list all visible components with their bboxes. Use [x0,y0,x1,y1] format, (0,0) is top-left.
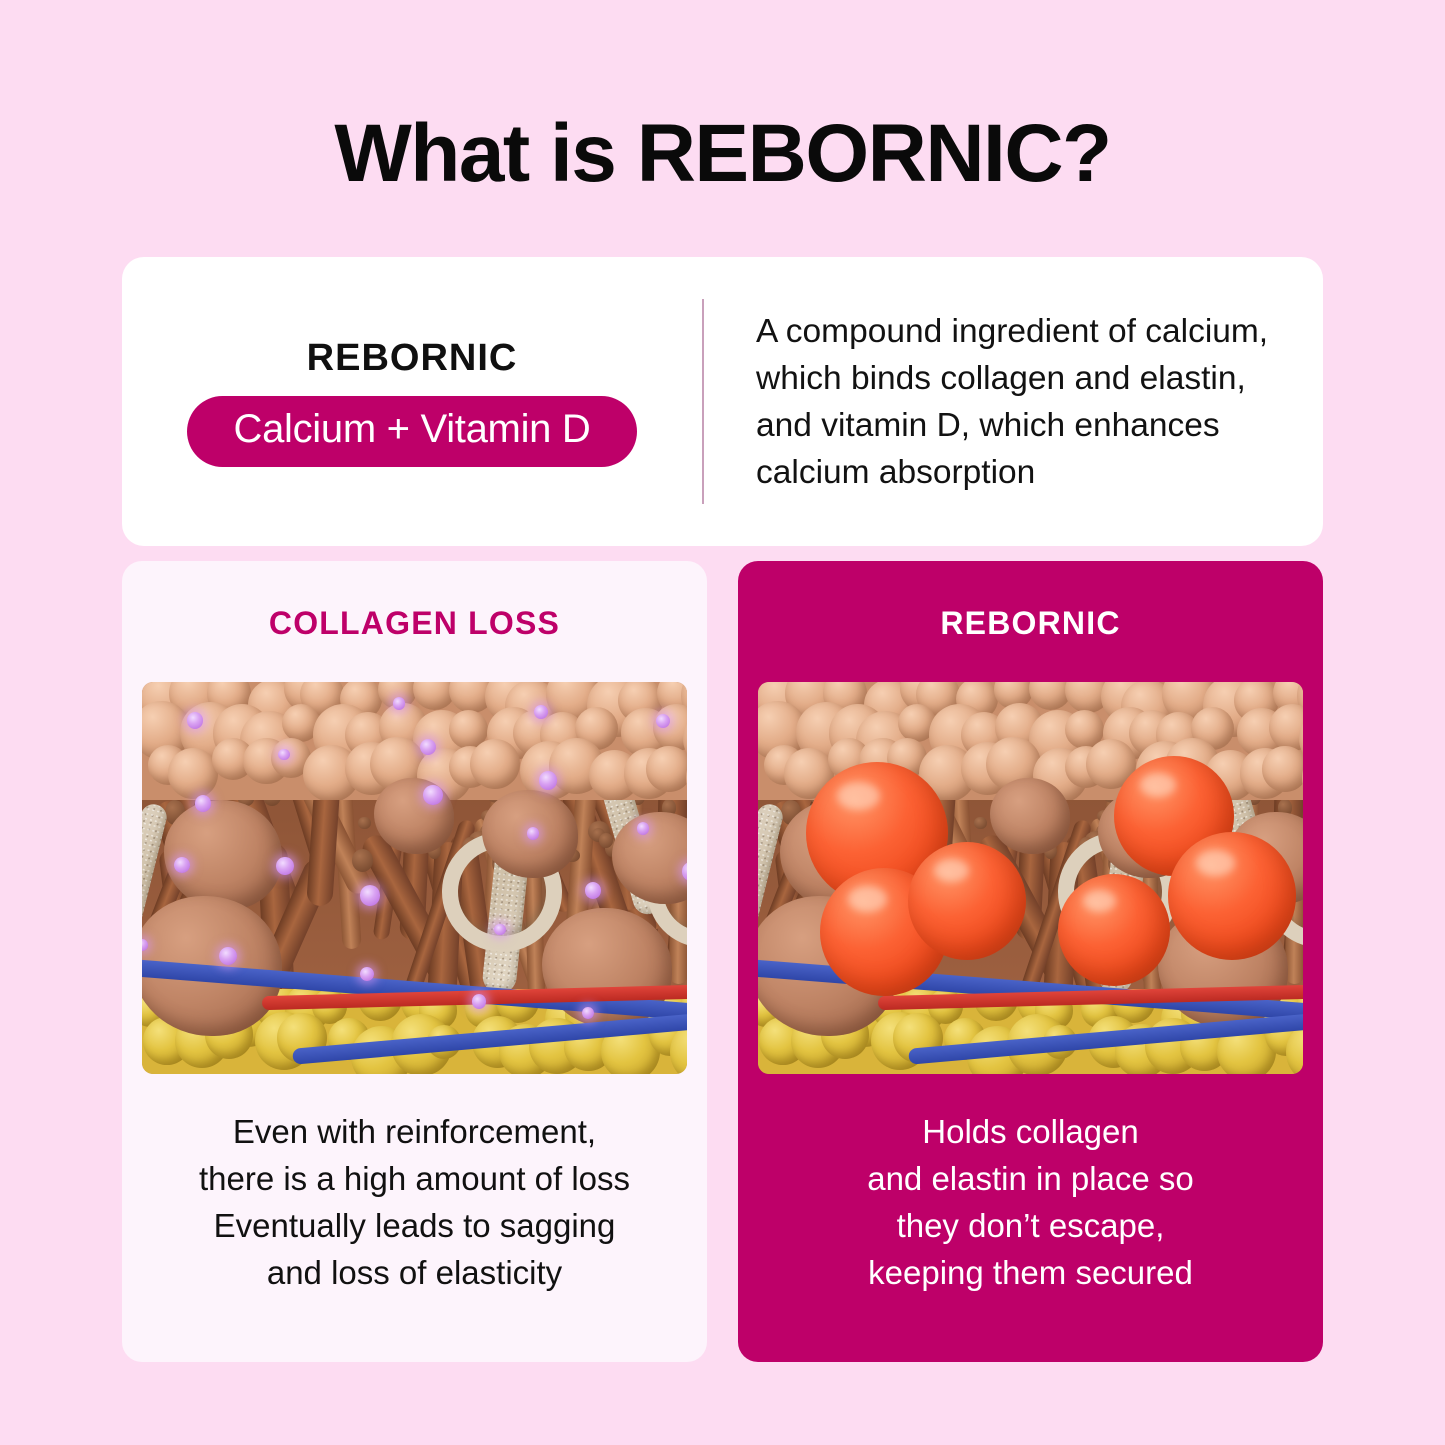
description-text: A compound ingredient of calcium, which … [704,308,1323,496]
calcium-particle [637,822,650,835]
calcium-particle [278,749,289,760]
skin-cell [470,739,520,789]
caption-line: there is a high amount of loss [199,1155,630,1202]
collagen-blob [990,778,1070,854]
brand-block: REBORNIC Calcium + Vitamin D [122,337,702,467]
page-title: What is REBORNIC? [0,107,1445,201]
calcium-particle [187,712,204,729]
rebornic-heading: REBORNIC [940,605,1120,642]
calcium-particle [360,885,381,906]
dermis-nodule [358,817,371,830]
description-line: calcium absorption [756,449,1293,496]
calcium-particle [276,857,294,875]
caption-line: keeping them secured [867,1249,1194,1296]
rebornic-sphere [908,842,1026,960]
skin-cell [646,746,687,792]
rebornic-sphere [1168,832,1296,960]
calcium-particle [393,697,406,710]
collagen-loss-caption: Even with reinforcement, there is a high… [199,1108,630,1296]
info-card: REBORNIC Calcium + Vitamin D A compound … [122,257,1323,546]
rebornic-caption: Holds collagen and elastin in place so t… [867,1108,1194,1296]
skin-cell [1262,746,1303,792]
calcium-particle [585,882,602,899]
calcium-particle [360,967,374,981]
caption-line: and elastin in place so [867,1155,1194,1202]
calcium-particle [423,785,443,805]
collagen-loss-heading: COLLAGEN LOSS [269,605,560,642]
description-line: which binds collagen and elastin, [756,355,1293,402]
calcium-particle [534,705,548,719]
description-line: A compound ingredient of calcium, [756,308,1293,355]
caption-line: Eventually leads to sagging [199,1202,630,1249]
caption-line: Holds collagen [867,1108,1194,1155]
calcium-particle [195,795,212,812]
dermis-nodule [974,817,987,830]
calcium-particle [174,857,190,873]
caption-line: they don’t escape, [867,1202,1194,1249]
caption-line: Even with reinforcement, [199,1108,630,1155]
skin-cross-section-collagen-loss-illustration [142,682,687,1074]
rebornic-sphere [1058,874,1170,986]
calcium-particle [494,924,505,935]
brand-name: REBORNIC [307,337,518,380]
calcium-particle [472,994,487,1009]
calcium-particle [582,1007,594,1019]
calcium-particle [527,827,540,840]
calcium-particle [539,771,558,790]
caption-line: and loss of elasticity [199,1249,630,1296]
collagen-blob [374,778,454,854]
comparison-row: COLLAGEN LOSS Even with reinforcement, t… [122,561,1323,1362]
calcium-particle [219,947,237,965]
collagen-loss-card: COLLAGEN LOSS Even with reinforcement, t… [122,561,707,1362]
ingredient-pill: Calcium + Vitamin D [187,396,636,467]
skin-cross-section-rebornic-illustration [758,682,1303,1074]
rebornic-card: REBORNIC Holds collagen and elastin in p… [738,561,1323,1362]
skin-cell [168,748,218,798]
description-line: and vitamin D, which enhances [756,402,1293,449]
